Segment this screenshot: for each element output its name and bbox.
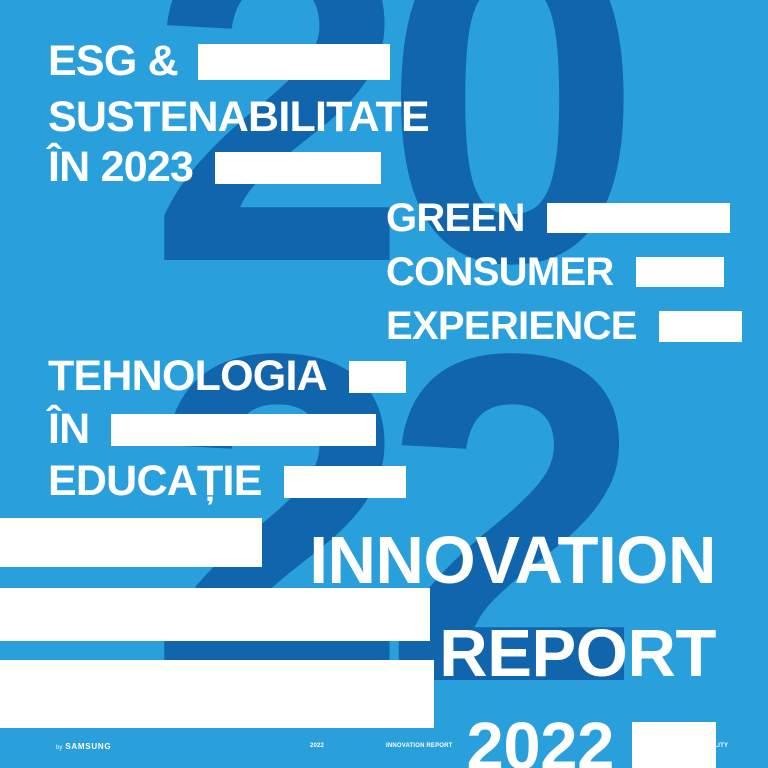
brand-lockup: by SAMSUNG [56,742,111,751]
topic-green-line-2: CONSUMER [386,252,614,292]
topic-green-line-1: GREEN [386,198,525,238]
samsung-logo: SAMSUNG [65,742,111,751]
redaction-bar [636,257,724,287]
topic-esg-line-1: ESG & [48,40,178,83]
redaction-bar [111,414,376,446]
redaction-bar [547,203,730,233]
main-title-line-1: INNOVATION [0,530,716,593]
topic-green-line-3-row: EXPERIENCE [386,306,742,346]
topic-education-line-3: EDUCAȚIE [48,460,262,503]
poster-canvas: 20 22 ESG & SUSTENABILITATE ÎN 2023 GREE… [0,0,768,768]
footer-bar: by SAMSUNG 2022 INNOVATION REPORT DIVING… [0,732,768,768]
redaction-bar [349,361,406,393]
topic-education-line-2-row: ÎN [48,408,376,451]
topic-education-line-3-row: EDUCAȚIE [48,460,406,503]
footer-year: 2022 [310,743,324,749]
main-title: INNOVATION REPORT 2022 [0,500,716,768]
footer-report-name: INNOVATION REPORT [386,743,453,749]
redaction-bar [659,311,742,342]
redaction-bar [215,152,381,184]
topic-education-line-1-row: TEHNOLOGIA [48,355,406,398]
topic-education-line-2: ÎN [48,408,89,451]
redaction-bar [284,466,406,498]
topic-education-line-1: TEHNOLOGIA [48,355,327,398]
topic-esg-line-2: SUSTENABILITATE [48,96,429,139]
brand-by-label: by [56,745,62,751]
topic-esg-line-3: ÎN 2023 [48,146,193,189]
topic-green-line-3: EXPERIENCE [386,306,637,346]
redaction-bar [198,44,390,80]
topic-green-line-2-row: CONSUMER [386,252,724,292]
main-title-line-2: REPORT [0,623,716,686]
topic-esg-line-1-row: ESG & [48,40,390,83]
topic-green-line-1-row: GREEN [386,198,730,238]
footer-tagline: DIVING INTO SUSTAINABILITY [636,743,728,749]
topic-esg-line-2-row: SUSTENABILITATE [48,96,429,139]
topic-esg-line-3-row: ÎN 2023 [48,146,381,189]
